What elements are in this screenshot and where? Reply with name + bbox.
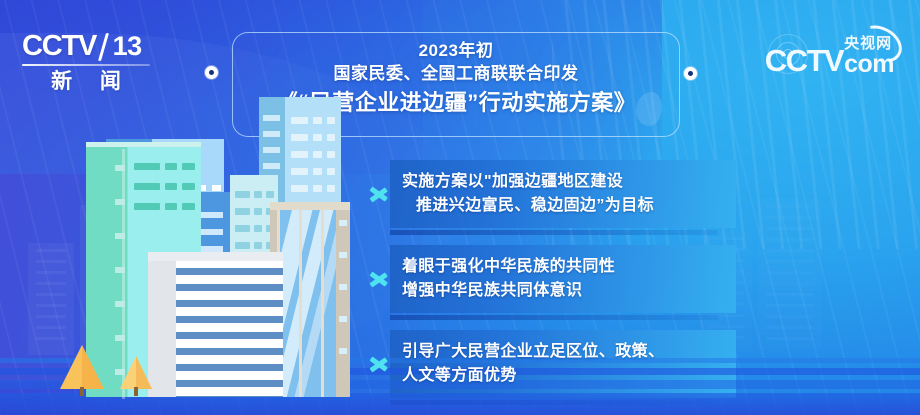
point-bar-text: 着眼于强化中华民族的共同性 增强中华民族共同体意识 — [402, 255, 615, 302]
point-bar: 着眼于强化中华民族的共同性 增强中华民族共同体意识 — [366, 245, 736, 313]
point-bar-text: 实施方案以"加强边疆地区建设 推进兴边富民、稳边固边”为目标 — [402, 170, 654, 217]
city-illustration — [42, 52, 360, 397]
cctv-com-logo: CCTV 央视网 com — [765, 36, 894, 76]
cctv-com-wordmark: CCTV — [765, 47, 843, 76]
chevron-right-icon — [368, 179, 394, 209]
chevron-right-icon — [368, 264, 394, 294]
tree-large — [60, 345, 104, 389]
building-striped-front — [148, 252, 283, 397]
tree-small — [120, 356, 152, 389]
point-bar-line: 增强中华民族共同体意识 — [402, 279, 615, 303]
point-bar-shadow — [390, 230, 718, 235]
point-bar-line: 人文等方面优势 — [402, 364, 664, 388]
point-bar-shadow — [390, 315, 718, 320]
point-bar-line: 推进兴边富民、稳边固边”为目标 — [402, 194, 654, 218]
point-bar: 实施方案以"加强边疆地区建设 推进兴边富民、稳边固边”为目标 — [366, 160, 736, 228]
chevron-right-icon — [368, 349, 394, 379]
point-bar-line: 着眼于强化中华民族的共同性 — [402, 255, 615, 279]
point-bar-text: 引导广大民营企业立足区位、政策、 人文等方面优势 — [402, 340, 664, 387]
broadcast-graphic: CCTV 13 新 闻 CCTV 央视网 com 2023年初 国家民委、全国工… — [0, 0, 920, 415]
point-bar-line: 引导广大民营企业立足区位、政策、 — [402, 340, 664, 364]
point-bar-line: 实施方案以"加强边疆地区建设 — [402, 170, 654, 194]
decorative-dot-right — [684, 67, 697, 80]
